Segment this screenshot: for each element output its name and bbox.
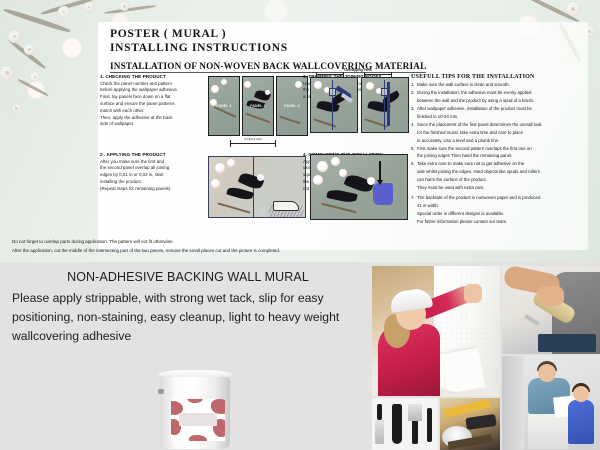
- step-1-line-5: match with each other.: [100, 108, 204, 115]
- step-1-body: Check the panel number and pattern befor…: [100, 81, 204, 129]
- panel-2: PANEL 2: [242, 76, 274, 136]
- bucket-handle: [158, 389, 164, 394]
- bucket-body: [160, 377, 230, 449]
- step-1-line-7: side of wallpaper.: [100, 121, 204, 128]
- tip-4-line-1: Since the placement of the first panel d…: [417, 122, 542, 127]
- brush-handle-icon: [377, 404, 382, 420]
- tip-item: 41 in width.: [411, 203, 586, 210]
- step-1-line-3: Finst, lay panels face down on a flat: [100, 94, 204, 101]
- bucket-label-text-block: [179, 413, 217, 426]
- photo-tools-and-roll: [440, 398, 500, 450]
- panel-1-label: PANEL 1: [216, 104, 231, 108]
- tip-6-line-2: side whilst joining the edges. Hard obje…: [417, 169, 540, 174]
- figure-completing: [310, 154, 408, 220]
- promo-body: Please apply strippable, with strong wet…: [12, 289, 364, 346]
- tip-2-line-2: between the wall and the product by usin…: [417, 98, 534, 103]
- tip-item: side whilst joining the edges. Hard obje…: [411, 169, 586, 176]
- bucket-label: [171, 399, 225, 441]
- step-2-heading: 2 . APPLYING THE PRODUCT: [100, 152, 204, 157]
- step-2: 2 . APPLYING THE PRODUCT After you make …: [100, 152, 300, 232]
- page-title: POSTER ( MURAL ): [110, 28, 588, 40]
- adhesive-bucket: [157, 370, 233, 448]
- tip-item: the joining edges Then hand the remainin…: [411, 153, 586, 160]
- tip-item: 1.Make sure the wall surface is clean an…: [411, 82, 586, 89]
- tip-item: can harm the surface of the product.: [411, 177, 586, 184]
- tip-2-line-1: During the installation, the adhesive mu…: [417, 90, 531, 95]
- step-1-line-6: Then, apply the adhesive at the back: [100, 115, 204, 122]
- tip-item: between the wall and the product by usin…: [411, 98, 586, 105]
- step-2-line-5: (Repeat steps for remaining panels): [100, 186, 204, 193]
- trim-figure-right: [361, 77, 409, 133]
- instruction-sheet: POSTER ( MURAL ) INSTALLING INSTRUCTIONS…: [98, 22, 588, 250]
- photo-woman-hanging-mural: [372, 266, 500, 396]
- panel-1: PANEL 1: [208, 76, 240, 136]
- column-left: 1. CHECKING THE PRODUCT Check the panel …: [100, 74, 300, 232]
- tip-6-line-1: Take extra care to make sure not to get …: [417, 161, 524, 166]
- tip-3-line-1: After wallpaper adhesive, installation o…: [417, 106, 532, 111]
- tip-7-line-2: 41 in width.: [417, 203, 439, 208]
- photo-man-and-child-installing: [502, 356, 600, 450]
- trim-figure-left: [310, 77, 358, 133]
- figure-applying-product: [208, 156, 306, 218]
- brush-bristles-icon: [375, 420, 384, 444]
- step-2-line-3: edges by 0,01 in or 0,02 in, start: [100, 172, 204, 179]
- poster-page: POSTER ( MURAL ) INSTALLING INSTRUCTIONS…: [0, 0, 600, 450]
- knife-icon: [427, 408, 432, 442]
- step-1-line-2: before applying the wallpaper adhesive.: [100, 87, 204, 94]
- tip-item: 7.The backside of the product is nonwove…: [411, 195, 586, 202]
- tip-item: 6.Take extra care to make sure not to ge…: [411, 161, 586, 168]
- panel-3-label: PANEL 3: [284, 104, 299, 108]
- tip-item: finished in 10-20 min.: [411, 114, 586, 121]
- panel-dimension-line: 0,01/0,2 inch: [222, 138, 284, 147]
- tip-5-line-2: the joining edges Then hand the remainin…: [417, 153, 512, 158]
- tips-heading: USEFULL TIPS FOR THE INSTALLATION: [411, 74, 586, 80]
- tip-1-line-1: Make sure the wall surface is clean and …: [417, 82, 510, 87]
- figure-trimming: Overlapping Parts: [310, 68, 409, 133]
- tip-item: 5.First make sure the second pattern ove…: [411, 146, 586, 153]
- tips-list: 1.Make sure the wall surface is clean an…: [411, 82, 586, 226]
- tip-4-line-3: in accurately. Use a level and a plumb l…: [417, 138, 499, 143]
- tip-6-line-4: They must be used with extra care.: [417, 185, 485, 190]
- step-1-line-1: Check the panel number and pattern: [100, 81, 204, 88]
- step-1-line-4: surface and ensure the panel patterns: [100, 101, 204, 108]
- tip-item: They must be used with extra care.: [411, 185, 586, 192]
- step-2-line-4: installing the product.: [100, 179, 204, 186]
- photo-roller-applying-paste: [502, 266, 600, 354]
- tip-item: 2.During the installation, the adhesive …: [411, 90, 586, 97]
- step-2-line-2: the second panel overlap all joining: [100, 165, 204, 172]
- tip-item: For futher information please contact ou…: [411, 219, 586, 226]
- tip-item: for the finished mural, take extra time …: [411, 130, 586, 137]
- photo-collage: [372, 266, 600, 450]
- smoother-icon: [392, 404, 402, 444]
- page-subtitle: INSTALLING INSTRUCTIONS: [110, 42, 588, 54]
- photo-tools-set: [372, 398, 438, 450]
- column-right-tips: USEFULL TIPS FOR THE INSTALLATION 1.Make…: [411, 74, 586, 227]
- tip-5-line-1: First make sure the second pattern overl…: [417, 146, 532, 151]
- footer-notes: Do not forget to overlap parts during ap…: [12, 238, 588, 255]
- instruction-columns: 1. CHECKING THE PRODUCT Check the panel …: [98, 74, 588, 250]
- tip-7-line-1: The backside of the product is nonwoven …: [417, 195, 540, 200]
- step-1-heading: 1. CHECKING THE PRODUCT: [100, 74, 204, 79]
- panel-2-label: PANEL 2: [250, 104, 265, 108]
- figure-three-panels: PANEL 1 PANEL 2: [208, 76, 308, 147]
- tip-7-line-3: Special order in different designs is av…: [417, 211, 504, 216]
- tip-item: 3.After wallpaper adhesive, installation…: [411, 106, 586, 113]
- step-2-line-1: After you make sure the first and: [100, 159, 204, 166]
- scraper-handle-icon: [412, 420, 418, 444]
- step-1: 1. CHECKING THE PRODUCT Check the panel …: [100, 74, 300, 152]
- step-2-body: After you make sure the first and the se…: [100, 159, 204, 193]
- tip-item: 4.Since the placement of the first panel…: [411, 122, 586, 129]
- note-line-2: After the application, cut the middle of…: [12, 247, 588, 256]
- promo-heading: NON-ADHESIVE BACKING WALL MURAL: [12, 270, 364, 284]
- tip-3-line-2: finished in 10-20 min.: [417, 114, 458, 119]
- tip-6-line-3: can harm the surface of the product.: [417, 177, 487, 182]
- tip-7-line-4: For futher information please contact ou…: [417, 219, 507, 224]
- tip-4-line-2: for the finished mural, take extra time …: [417, 130, 523, 135]
- tip-item: Special order in different designs is av…: [411, 211, 586, 218]
- promo-text-block: NON-ADHESIVE BACKING WALL MURAL Please a…: [12, 270, 364, 346]
- note-line-1: Do not forget to overlap parts during ap…: [12, 238, 588, 247]
- tip-item: in accurately. Use a level and a plumb l…: [411, 138, 586, 145]
- down-arrow-icon: [379, 161, 381, 181]
- scraper-blade-icon: [408, 404, 422, 421]
